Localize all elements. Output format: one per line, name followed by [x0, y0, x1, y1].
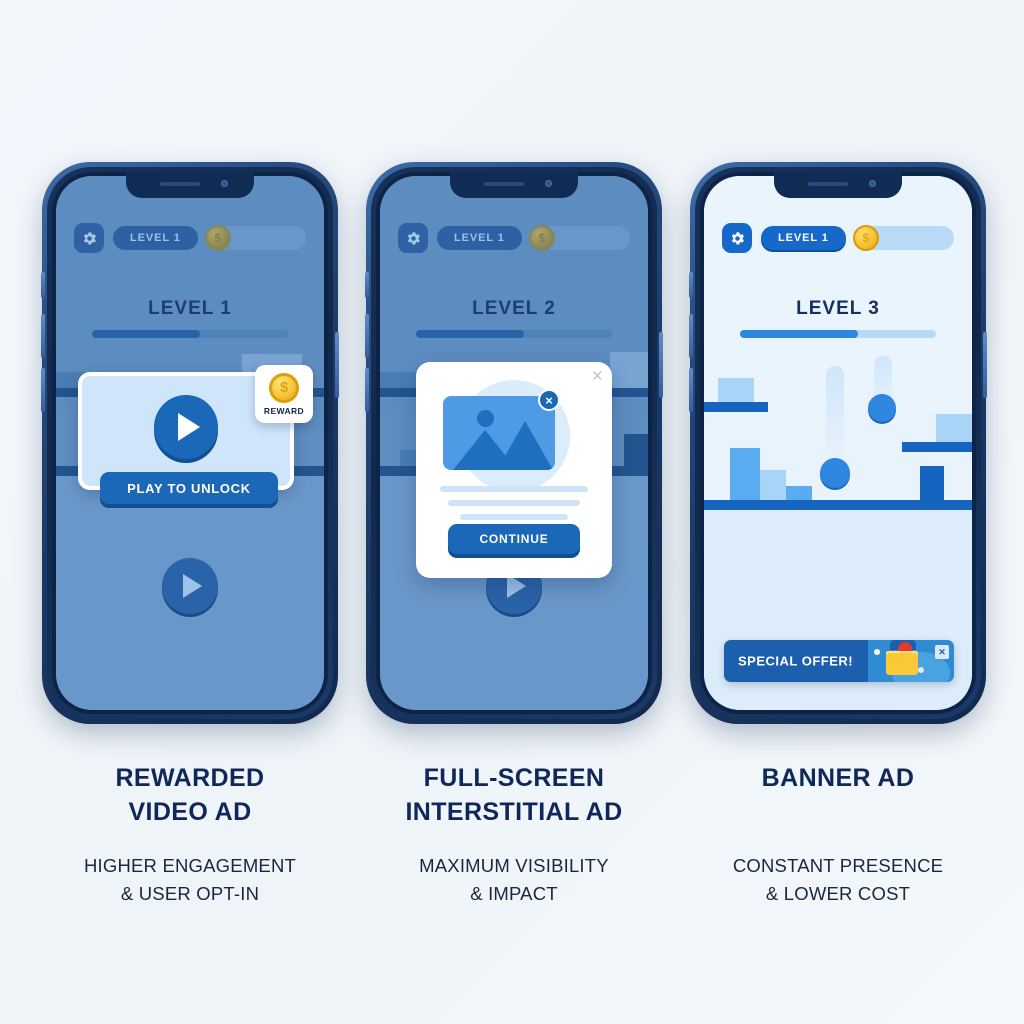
platform: [730, 448, 760, 500]
coin-icon: [529, 225, 555, 251]
ball-motion-trail: [826, 366, 844, 472]
platform: [936, 414, 972, 442]
platform: [610, 352, 648, 388]
reward-badge: $ REWARD: [255, 365, 313, 423]
caption-title-line2: INTERSTITIAL AD: [349, 796, 679, 830]
close-icon[interactable]: ✕: [935, 645, 949, 659]
level-progress-fill: [92, 330, 200, 338]
caption-subtitle: MAXIMUM VISIBILITY & IMPACT: [349, 852, 679, 909]
hud-coin-bar: [855, 226, 954, 250]
caption-sub-line1: MAXIMUM VISIBILITY: [349, 852, 679, 881]
platform: [760, 470, 786, 500]
banner-ad[interactable]: SPECIAL OFFER! ✕: [724, 640, 954, 682]
level-progress-fill: [416, 330, 524, 338]
caption-subtitle: CONSTANT PRESENCE & LOWER COST: [673, 852, 1003, 909]
coin-icon: [205, 225, 231, 251]
caption-sub-line1: HIGHER ENGAGEMENT: [25, 852, 355, 881]
caption-title-line2: VIDEO AD: [25, 796, 355, 830]
platform: [902, 442, 972, 452]
game-hud: LEVEL 1: [380, 222, 648, 254]
phone-side-button-volume-down[interactable]: [365, 368, 369, 412]
background-play-icon: [162, 558, 218, 614]
placeholder-line: [440, 486, 588, 492]
ad-close-badge[interactable]: ×: [538, 389, 560, 411]
phone-mockup-banner: LEVEL 1 LEVEL 3 SPECIAL OFFER!: [690, 162, 986, 724]
game-scene: LEVEL 1 LEVEL 3 SPECIAL OFFER!: [704, 176, 972, 710]
ground-line: [704, 500, 972, 510]
caption-subtitle: HIGHER ENGAGEMENT & USER OPT-IN: [25, 852, 355, 909]
caption-sub-line2: & IMPACT: [349, 880, 679, 909]
phone-side-button-power[interactable]: [983, 332, 987, 398]
infographic-stage: LEVEL 1 LEVEL 1 PLAY TO UNLOCK: [0, 0, 1024, 1024]
phone-mockup-interstitial: LEVEL 1 LEVEL 2 ×: [366, 162, 662, 724]
hud-coin-bar: [531, 226, 630, 250]
caption-title: BANNER AD: [673, 762, 1003, 830]
hud-level-pill[interactable]: LEVEL 1: [437, 226, 522, 250]
front-camera-icon: [545, 180, 552, 187]
caption-title-line1: BANNER AD: [673, 762, 1003, 796]
platform: [920, 466, 944, 500]
phone-side-button-power[interactable]: [659, 332, 663, 398]
phone-notch: [774, 172, 902, 198]
phone-screen: LEVEL 1 LEVEL 3 SPECIAL OFFER!: [704, 176, 972, 710]
level-progress-bar: [416, 330, 612, 338]
caption-title-line1: REWARDED: [25, 762, 355, 796]
caption-title-line2: [673, 796, 1003, 830]
phone-screen: LEVEL 1 LEVEL 2 ×: [380, 176, 648, 710]
phone-side-button-volume-up[interactable]: [689, 314, 693, 358]
platform: [718, 378, 754, 402]
level-progress-bar: [740, 330, 936, 338]
caption-sub-line2: & LOWER COST: [673, 880, 1003, 909]
phone-screen: LEVEL 1 LEVEL 1 PLAY TO UNLOCK: [56, 176, 324, 710]
platform: [704, 402, 768, 412]
front-camera-icon: [221, 180, 228, 187]
caption-title-line1: FULL-SCREEN: [349, 762, 679, 796]
phone-side-button-volume-down[interactable]: [689, 368, 693, 412]
banner-ad-text: SPECIAL OFFER!: [738, 654, 853, 669]
phone-frame-inner: LEVEL 1 LEVEL 2 ×: [376, 172, 652, 714]
speaker-grille: [808, 182, 848, 186]
continue-button[interactable]: CONTINUE: [448, 524, 580, 554]
level-progress-fill: [740, 330, 858, 338]
phone-frame-inner: LEVEL 1 LEVEL 3 SPECIAL OFFER!: [700, 172, 976, 714]
caption-sub-line1: CONSTANT PRESENCE: [673, 852, 1003, 881]
phone-side-button-mute[interactable]: [689, 272, 693, 298]
interstitial-dialog: × × CONTINUE: [416, 362, 612, 578]
settings-button[interactable]: [74, 223, 104, 253]
level-title: LEVEL 1: [56, 298, 324, 320]
phone-side-button-power[interactable]: [335, 332, 339, 398]
phone-mockup-rewarded-video: LEVEL 1 LEVEL 1 PLAY TO UNLOCK: [42, 162, 338, 724]
caption-title: FULL-SCREEN INTERSTITIAL AD: [349, 762, 679, 830]
play-icon[interactable]: [154, 395, 218, 459]
caption-sub-line2: & USER OPT-IN: [25, 880, 355, 909]
gear-icon: [81, 230, 98, 247]
game-hud: LEVEL 1: [704, 222, 972, 254]
phone-frame-inner: LEVEL 1 LEVEL 1 PLAY TO UNLOCK: [52, 172, 328, 714]
level-title: LEVEL 2: [380, 298, 648, 320]
play-to-unlock-button[interactable]: PLAY TO UNLOCK: [100, 472, 278, 504]
settings-button[interactable]: [398, 223, 428, 253]
phone-notch: [126, 172, 254, 198]
platform: [786, 486, 812, 500]
platform: [624, 434, 648, 466]
hud-coin-bar: [207, 226, 306, 250]
gear-icon: [405, 230, 422, 247]
phone-side-button-volume-up[interactable]: [365, 314, 369, 358]
hud-level-pill[interactable]: LEVEL 1: [113, 226, 198, 250]
phone-notch: [450, 172, 578, 198]
phone-side-button-mute[interactable]: [365, 272, 369, 298]
phone-side-button-volume-down[interactable]: [41, 368, 45, 412]
phone-side-button-volume-up[interactable]: [41, 314, 45, 358]
coin-icon: $: [269, 373, 299, 403]
placeholder-line: [448, 500, 580, 506]
game-scene: LEVEL 1 LEVEL 1 PLAY TO UNLOCK: [56, 176, 324, 710]
front-camera-icon: [869, 180, 876, 187]
game-scene: LEVEL 1 LEVEL 2 ×: [380, 176, 648, 710]
placeholder-line: [460, 514, 568, 520]
reward-badge-label: REWARD: [264, 406, 304, 416]
hud-level-pill[interactable]: LEVEL 1: [761, 226, 846, 250]
gear-icon: [729, 230, 746, 247]
level-title: LEVEL 3: [704, 298, 972, 320]
speaker-grille: [160, 182, 200, 186]
caption-title: REWARDED VIDEO AD: [25, 762, 355, 830]
caption-rewarded-video: REWARDED VIDEO AD HIGHER ENGAGEMENT & US…: [25, 762, 355, 909]
caption-interstitial: FULL-SCREEN INTERSTITIAL AD MAXIMUM VISI…: [349, 762, 679, 909]
game-ball: [820, 458, 850, 488]
speaker-grille: [484, 182, 524, 186]
settings-button[interactable]: [722, 223, 752, 253]
caption-banner: BANNER AD CONSTANT PRESENCE & LOWER COST: [673, 762, 1003, 909]
game-hud: LEVEL 1: [56, 222, 324, 254]
game-ball: [868, 394, 896, 422]
close-icon[interactable]: ×: [592, 367, 603, 386]
phone-side-button-mute[interactable]: [41, 272, 45, 298]
level-progress-bar: [92, 330, 288, 338]
image-icon: [443, 396, 555, 470]
coin-icon: [853, 225, 879, 251]
